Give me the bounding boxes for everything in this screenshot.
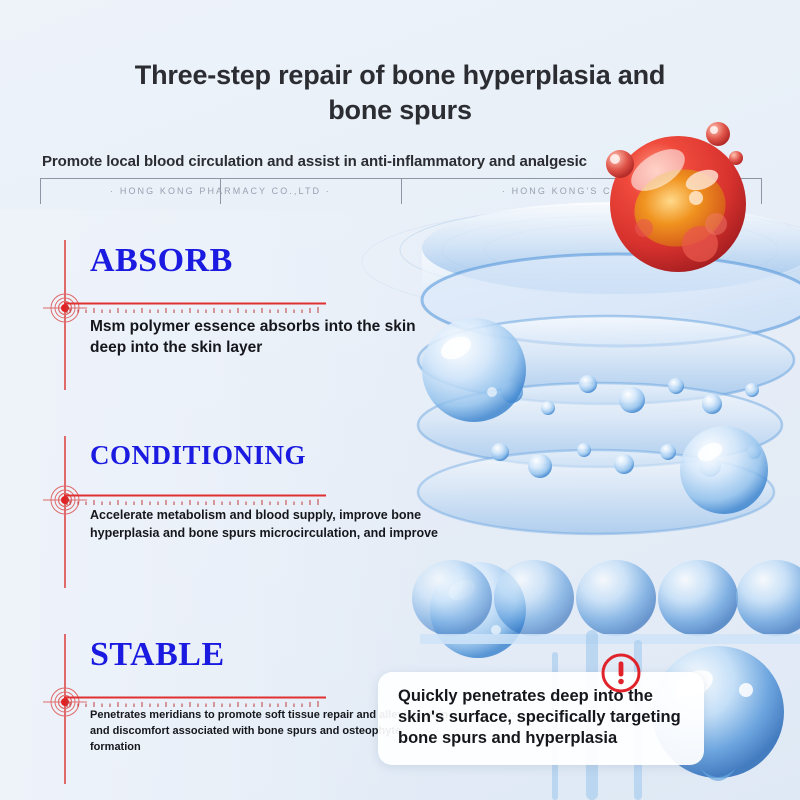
feature-body-absorb: Msm polymer essence absorbs into the ski… bbox=[52, 278, 452, 359]
brand-band-cell-left: · HONG KONG PHARMACY CO.,LTD · bbox=[40, 178, 401, 204]
feature-block-absorb: ABSORB bbox=[52, 240, 452, 390]
feature-block-conditioning: CONDITIONING bbox=[52, 436, 452, 588]
callout-text: Quickly penetrates deep into the skin's … bbox=[398, 686, 688, 749]
feature-kicker-conditioning: CONDITIONING bbox=[52, 436, 452, 469]
feature-ruler-rule bbox=[64, 494, 326, 505]
callout-box: Quickly penetrates deep into the skin's … bbox=[378, 672, 704, 765]
red-essence-sphere bbox=[592, 112, 760, 280]
feature-kicker-absorb: ABSORB bbox=[52, 240, 452, 278]
feature-ruler-rule bbox=[64, 696, 326, 707]
feature-ruler-rule bbox=[64, 302, 326, 313]
feature-body-conditioning: Accelerate metabolism and blood supply, … bbox=[52, 469, 452, 543]
product-poster: Three-step repair of bone hyperplasia an… bbox=[0, 0, 800, 800]
feature-kicker-stable: STABLE bbox=[52, 634, 452, 672]
exclamation-warning-icon bbox=[598, 650, 644, 696]
page-title: Three-step repair of bone hyperplasia an… bbox=[0, 0, 800, 127]
brand-text-left: · HONG KONG PHARMACY CO.,LTD · bbox=[110, 186, 331, 196]
